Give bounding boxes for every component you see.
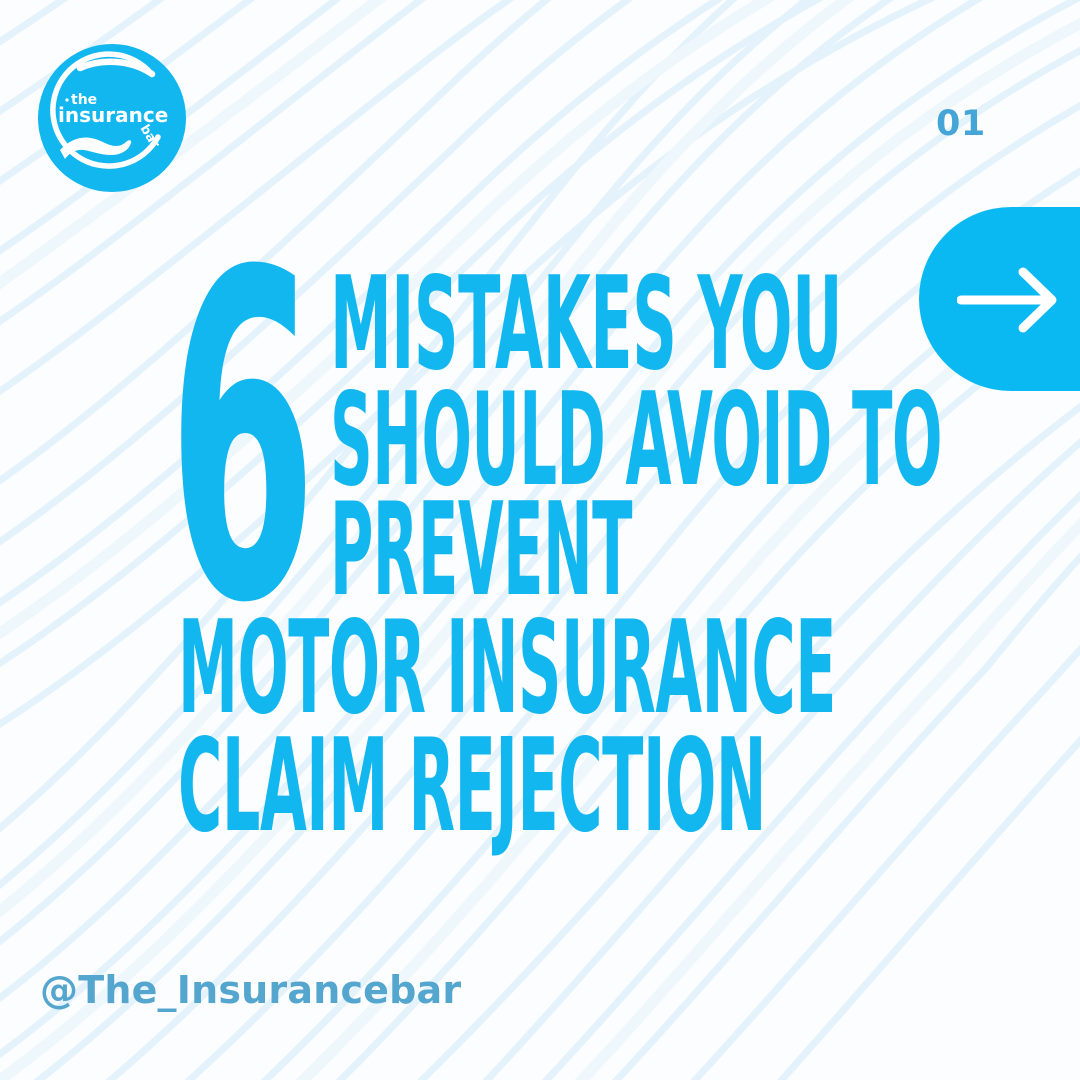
logo-text-insurance: insurance	[58, 103, 168, 127]
slide-number: 01	[936, 104, 986, 144]
social-handle: @The_Insurancebar	[40, 968, 461, 1012]
circle-hand-logo: the insurance bar	[36, 42, 188, 194]
arrow-right-icon	[957, 264, 1065, 336]
social-post-canvas: the insurance bar 01 6 MISTAKES YOU SHOU…	[0, 0, 1080, 1080]
